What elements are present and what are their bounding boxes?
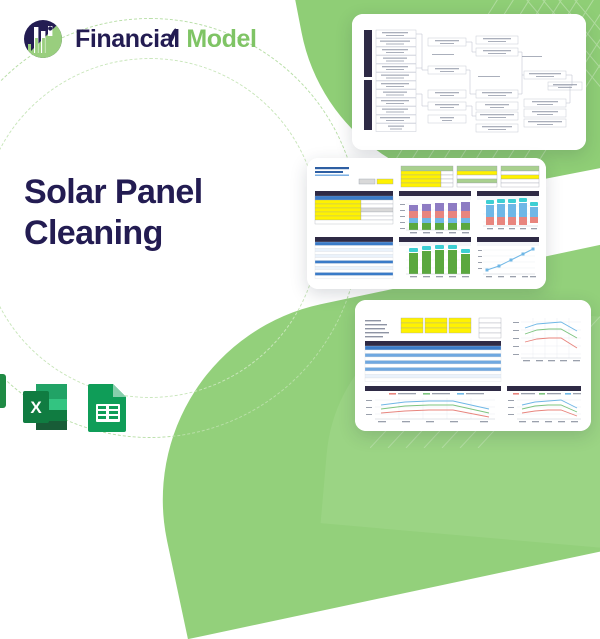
page-title-line1: Solar Panel bbox=[24, 172, 274, 213]
leaf-accent-icon bbox=[165, 27, 179, 45]
financial-model-circle-logo bbox=[22, 18, 64, 60]
preview-card-statements[interactable] bbox=[355, 300, 591, 431]
google-sheets-icon[interactable] bbox=[85, 382, 131, 432]
svg-text:X: X bbox=[30, 398, 42, 417]
microsoft-excel-icon[interactable]: X bbox=[22, 382, 68, 432]
file-format-icons: X bbox=[22, 382, 131, 432]
brand-name-part2: Model bbox=[186, 25, 256, 53]
page-title-line2: Cleaning bbox=[24, 213, 274, 254]
brand-logo: Financial Model bbox=[22, 18, 257, 60]
preview-card-dashboard[interactable] bbox=[307, 158, 546, 289]
preview-card-flowchart[interactable] bbox=[352, 14, 586, 150]
green-accent-tab bbox=[0, 374, 6, 408]
page-title: Solar Panel Cleaning bbox=[24, 172, 274, 255]
